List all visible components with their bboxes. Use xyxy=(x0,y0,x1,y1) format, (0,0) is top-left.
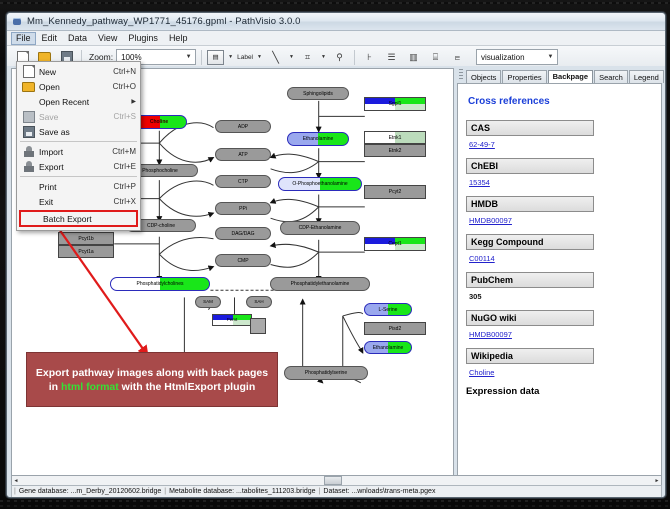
align-center-button[interactable]: ☰ xyxy=(382,48,401,67)
pathvisio-app-icon xyxy=(12,16,23,27)
tab-legend[interactable]: Legend xyxy=(629,70,664,83)
chevron-right-icon: ▶ xyxy=(131,98,136,105)
import-icon xyxy=(21,146,36,158)
menu-item-label: Export xyxy=(39,162,114,172)
toolbar-separator xyxy=(354,50,355,65)
visualization-combo[interactable]: visualization ▼ xyxy=(476,49,558,65)
xref-header-nugo-wiki: NuGO wiki xyxy=(466,310,594,326)
menu-item-open-recent[interactable]: Open Recent ▶ xyxy=(17,94,140,109)
menu-item-label: Open Recent xyxy=(39,97,131,107)
menu-item-export[interactable]: Export Ctrl+E xyxy=(17,159,140,174)
annotation-callout: Export pathway images along with back pa… xyxy=(26,352,278,407)
save-icon xyxy=(21,111,36,123)
menu-item-label: New xyxy=(39,67,113,77)
align-left-button[interactable]: ⊦ xyxy=(360,48,379,67)
menu-item-save: Save Ctrl+S xyxy=(17,109,140,124)
blank-icon xyxy=(21,181,36,193)
tab-objects[interactable]: Objects xyxy=(466,70,501,83)
menu-separator xyxy=(20,176,137,177)
menu-item-accel: Ctrl+E xyxy=(114,162,136,171)
backpage-content: Cross references CAS 62-49-7 ChEBI 15354… xyxy=(457,83,662,497)
menu-separator xyxy=(20,141,137,142)
menu-item-batch-export[interactable]: Batch Export xyxy=(19,210,138,227)
label-tool-label: Label xyxy=(237,54,253,61)
title-bar: Mm_Kennedy_pathway_WP1771_45176.gpml - P… xyxy=(7,13,665,31)
menu-item-accel: Ctrl+O xyxy=(113,82,136,91)
scroll-right-icon[interactable]: ► xyxy=(653,477,661,484)
line-tool-button[interactable]: ╲ xyxy=(266,48,285,67)
chevron-down-icon: ▼ xyxy=(546,54,555,60)
menu-item-accel: Ctrl+N xyxy=(113,67,136,76)
menu-item-save-as[interactable]: Save as xyxy=(17,124,140,139)
callout-text: Export pathway images along with back pa… xyxy=(33,366,271,394)
menu-help[interactable]: Help xyxy=(164,32,193,45)
menu-plugins[interactable]: Plugins xyxy=(123,32,163,45)
menu-item-label: Batch Export xyxy=(43,214,132,224)
blank-icon xyxy=(21,196,36,208)
menu-item-label: Import xyxy=(39,147,112,157)
menu-data[interactable]: Data xyxy=(63,32,92,45)
toolbar-separator xyxy=(201,50,202,65)
xref-header-wikipedia: Wikipedia xyxy=(466,348,594,364)
application-window: Mm_Kennedy_pathway_WP1771_45176.gpml - P… xyxy=(6,12,666,498)
menu-view[interactable]: View xyxy=(93,32,122,45)
expression-data-title: Expression data xyxy=(466,386,661,397)
distribute-button[interactable]: ▥ xyxy=(404,48,423,67)
file-menu-dropdown[interactable]: New Ctrl+N Open Ctrl+O Open Recent ▶ Sav… xyxy=(16,61,141,231)
menu-item-print[interactable]: Print Ctrl+P xyxy=(17,179,140,194)
xref-header-kegg-compound: Kegg Compound xyxy=(466,234,594,250)
blank-icon xyxy=(21,96,36,108)
xref-value-nugo-wiki[interactable]: HMDB00097 xyxy=(469,330,661,339)
desktop-noise-band xyxy=(0,500,670,502)
menu-item-new[interactable]: New Ctrl+N xyxy=(17,64,140,79)
menu-item-label: Save as xyxy=(39,127,136,137)
save-as-icon xyxy=(21,126,36,138)
open-folder-icon xyxy=(21,81,36,93)
menu-item-accel: Ctrl+P xyxy=(114,182,136,191)
callout-text-after: with the HtmlExport plugin xyxy=(119,381,256,393)
chevron-down-icon[interactable]: ▼ xyxy=(288,54,295,60)
right-panel: Objects Properties Backpage Search Legen… xyxy=(457,68,662,497)
xref-value-hmdb[interactable]: HMDB00097 xyxy=(469,216,661,225)
xref-header-cas: CAS xyxy=(466,120,594,136)
xref-value-cas[interactable]: 62-49-7 xyxy=(469,140,661,149)
menu-item-accel: Ctrl+M xyxy=(112,147,136,156)
right-panel-tabstrip: Objects Properties Backpage Search Legen… xyxy=(457,68,662,83)
desktop-noise-band xyxy=(0,2,670,4)
screenshot-root: Mm_Kennedy_pathway_WP1771_45176.gpml - P… xyxy=(0,0,670,509)
menu-item-exit[interactable]: Exit Ctrl+X xyxy=(17,194,140,209)
window-title: Mm_Kennedy_pathway_WP1771_45176.gpml - P… xyxy=(27,16,301,27)
xref-value-chebi[interactable]: 15354 xyxy=(469,178,661,187)
new-document-icon xyxy=(21,66,36,78)
menu-item-label: Print xyxy=(39,182,114,192)
xref-value-wikipedia[interactable]: Choline xyxy=(469,368,661,377)
menu-bar: File Edit Data View Plugins Help xyxy=(7,31,665,46)
menu-item-label: Save xyxy=(39,112,114,122)
tab-backpage[interactable]: Backpage xyxy=(548,70,593,83)
tab-properties[interactable]: Properties xyxy=(502,70,546,83)
cross-references-title: Cross references xyxy=(468,96,661,107)
chevron-down-icon[interactable]: ▼ xyxy=(256,54,263,60)
callout-text-highlight: html format xyxy=(61,381,119,393)
menu-item-label: Open xyxy=(39,82,113,92)
blank-icon xyxy=(25,213,40,225)
xref-header-chebi: ChEBI xyxy=(466,158,594,174)
xref-header-hmdb: HMDB xyxy=(466,196,594,212)
menu-item-label: Exit xyxy=(39,197,114,207)
menu-edit[interactable]: Edit xyxy=(37,32,63,45)
export-icon xyxy=(21,161,36,173)
tab-search[interactable]: Search xyxy=(594,70,628,83)
xref-value-pubchem: 305 xyxy=(469,292,661,301)
visualization-value: visualization xyxy=(481,53,525,62)
menu-item-accel: Ctrl+X xyxy=(114,197,136,206)
stack-button[interactable]: ⌸ xyxy=(426,48,445,67)
xref-value-kegg-compound[interactable]: C00114 xyxy=(469,254,661,263)
shape-tool-button[interactable]: ⌗ xyxy=(298,48,317,67)
anchor-tool-button[interactable]: ⚲ xyxy=(330,48,349,67)
chevron-down-icon[interactable]: ▼ xyxy=(227,54,234,60)
group-button[interactable]: ⫢ xyxy=(448,48,467,67)
menu-item-accel: Ctrl+S xyxy=(114,112,136,121)
chevron-down-icon[interactable]: ▼ xyxy=(320,54,327,60)
menu-file[interactable]: File xyxy=(11,32,36,45)
menu-item-import[interactable]: Import Ctrl+M xyxy=(17,144,140,159)
menu-item-open[interactable]: Open Ctrl+O xyxy=(17,79,140,94)
chevron-down-icon: ▼ xyxy=(184,54,193,60)
xref-header-pubchem: PubChem xyxy=(466,272,594,288)
desktop-noise-band xyxy=(0,505,670,507)
datanode-icon[interactable]: ▤ xyxy=(207,50,224,65)
